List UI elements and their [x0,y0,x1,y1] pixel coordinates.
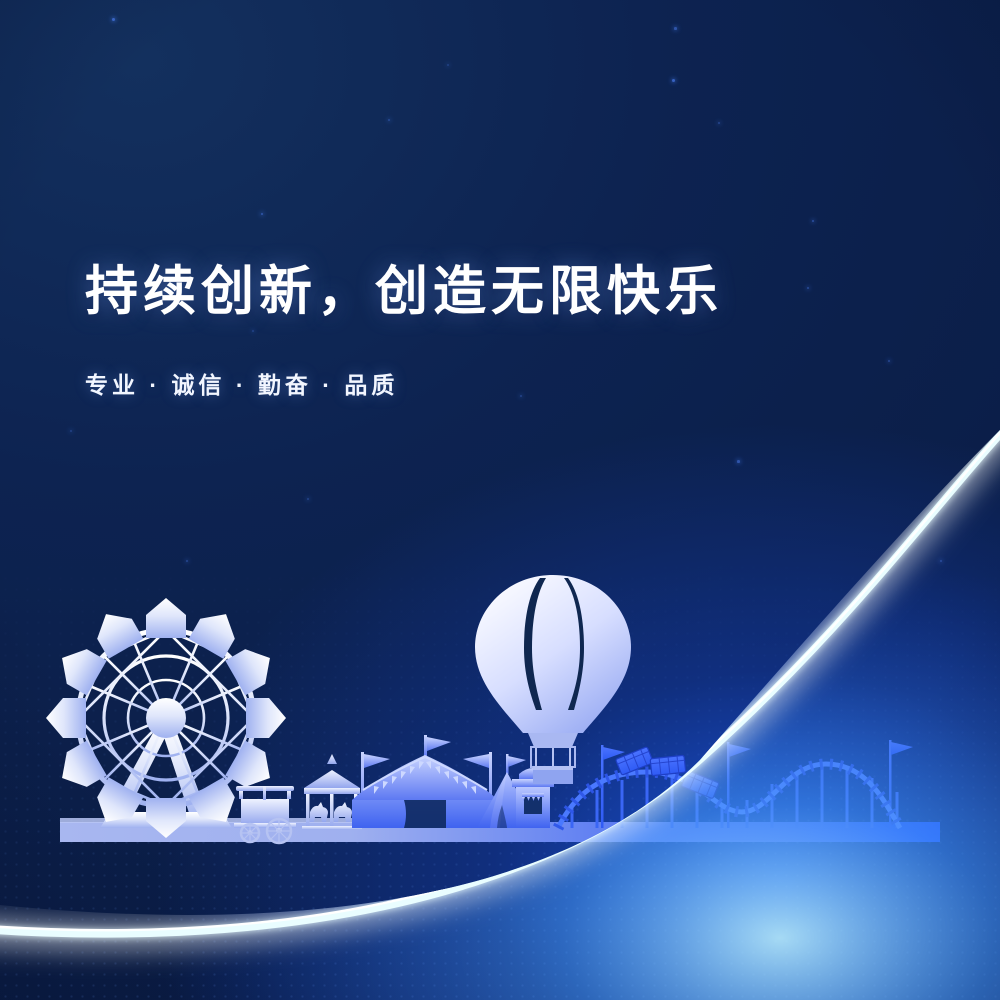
banner-canvas: 持续创新，创造无限快乐 专业 · 诚信 · 勤奋 · 品质 [0,0,1000,1000]
light-wave-mesh [0,0,1000,1000]
